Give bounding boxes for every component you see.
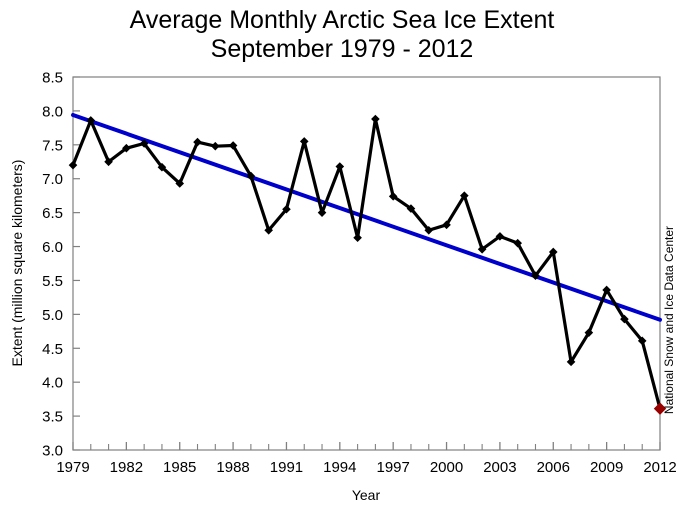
plot-border bbox=[73, 77, 660, 450]
chart-plot-area: 8.58.07.57.06.56.05.55.04.54.03.53.0 197… bbox=[0, 0, 684, 512]
x-tick-label-1994: 1994 bbox=[323, 459, 356, 476]
x-tick-label-1997: 1997 bbox=[376, 459, 409, 476]
x-tick-label-2012: 2012 bbox=[643, 459, 676, 476]
y-tick-label-4.5: 4.5 bbox=[42, 341, 63, 358]
x-axis-title: Year bbox=[352, 487, 381, 503]
x-tick-label-2000: 2000 bbox=[430, 459, 463, 476]
x-tick-label-2009: 2009 bbox=[590, 459, 623, 476]
x-tick-label-1985: 1985 bbox=[163, 459, 196, 476]
x-tick-label-1979: 1979 bbox=[56, 459, 89, 476]
y-axis-title: Extent (million square kilometers) bbox=[9, 160, 25, 367]
y-tick-label-4.0: 4.0 bbox=[42, 375, 63, 392]
x-tick-label-2006: 2006 bbox=[537, 459, 570, 476]
y-tick-label-8.5: 8.5 bbox=[42, 70, 63, 87]
data-center-credit: National Snow and Ice Data Center bbox=[662, 226, 676, 414]
y-tick-label-6.0: 6.0 bbox=[42, 239, 63, 256]
x-axis-tick-labels: 1979198219851988199119941997200020032006… bbox=[56, 459, 676, 476]
y-tick-label-7.0: 7.0 bbox=[42, 171, 63, 188]
y-tick-label-5.5: 5.5 bbox=[42, 273, 63, 290]
chart-figure: Average Monthly Arctic Sea Ice Extent Se… bbox=[0, 0, 684, 512]
x-tick-label-1982: 1982 bbox=[110, 459, 143, 476]
x-tick-label-1991: 1991 bbox=[270, 459, 303, 476]
y-tick-label-7.5: 7.5 bbox=[42, 137, 63, 154]
y-tick-label-3.0: 3.0 bbox=[42, 443, 63, 460]
plot-frame bbox=[73, 77, 660, 450]
x-tick-label-1988: 1988 bbox=[216, 459, 249, 476]
x-tick-label-2003: 2003 bbox=[483, 459, 516, 476]
y-tick-label-8.0: 8.0 bbox=[42, 103, 63, 120]
y-tick-label-3.5: 3.5 bbox=[42, 409, 63, 426]
y-axis-tick-labels: 8.58.07.57.06.56.05.55.04.54.03.53.0 bbox=[42, 70, 63, 460]
y-tick-label-6.5: 6.5 bbox=[42, 205, 63, 222]
y-tick-label-5.0: 5.0 bbox=[42, 307, 63, 324]
